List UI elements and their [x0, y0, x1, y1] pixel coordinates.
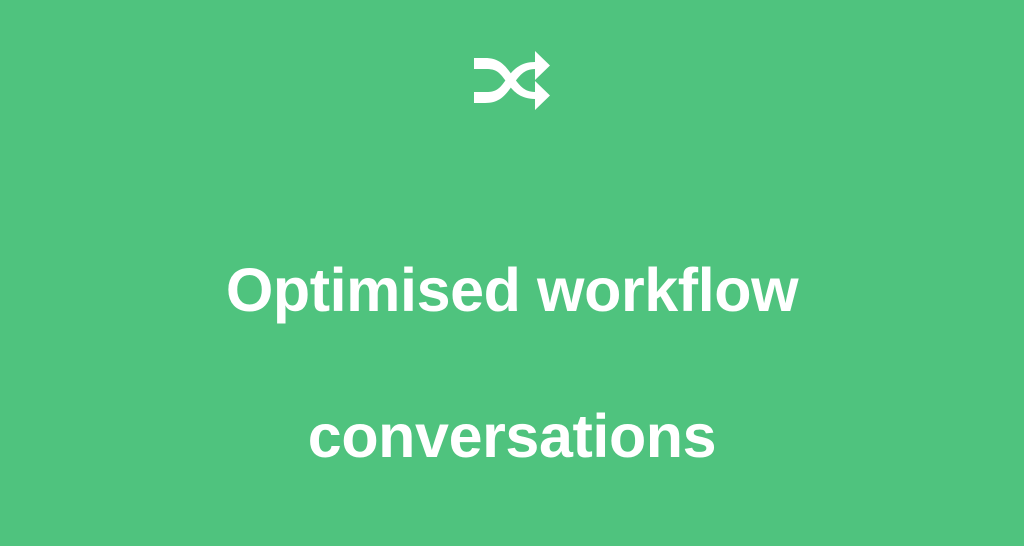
shuffle-icon-container [0, 46, 1024, 116]
headline-line-2: conversations [0, 400, 1024, 473]
promo-card: Optimised workflow conversations [0, 0, 1024, 512]
page-title: Optimised workflow conversations [0, 181, 1024, 546]
shuffle-icon [473, 51, 551, 111]
headline-line-1: Optimised workflow [0, 254, 1024, 327]
